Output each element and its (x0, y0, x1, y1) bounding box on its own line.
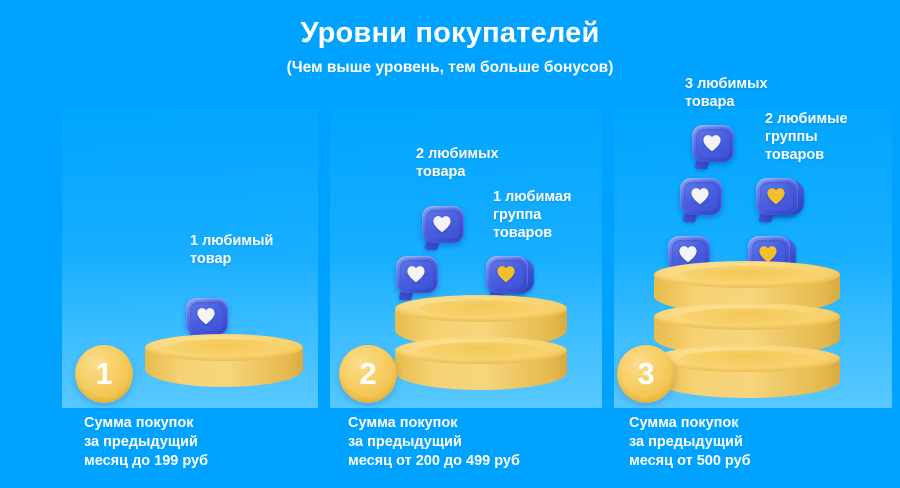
coin-stack-icon (654, 261, 840, 401)
caption-level-1: Сумма покупок за предыдущий месяц до 199… (84, 414, 334, 471)
callout-level-2-favorite-items: 2 любимых товара (416, 145, 566, 181)
speech-bubble-heart-icon (422, 206, 468, 250)
heart-icon (406, 265, 426, 283)
heart-icon (196, 307, 216, 325)
coin-stack-icon (145, 334, 303, 394)
level-card-3: 3 любимых товара 2 любимые группы товаро… (614, 0, 900, 488)
level-card-2: 2 любимых товара 1 любимая группа товаро… (330, 0, 616, 488)
speech-bubble-heart-icon (680, 178, 726, 222)
level-badge-1-number: 1 (95, 358, 112, 389)
caption-level-3: Сумма покупок за предыдущий месяц от 500… (629, 414, 891, 471)
heart-icon (690, 187, 710, 205)
level-badge-2-number: 2 (359, 358, 376, 389)
infographic-canvas: Уровни покупателей (Чем выше уровень, те… (0, 0, 900, 488)
level-badge-1: 1 (75, 345, 133, 403)
level-badge-3: 3 (617, 345, 675, 403)
speech-bubble-heart-icon (692, 125, 738, 169)
callout-level-1-favorite-items: 1 любимый товар (190, 232, 330, 268)
level-card-1: 1 любимый товар 1 Сумма покупок за преды… (62, 0, 330, 488)
level-badge-2: 2 (339, 345, 397, 403)
heart-icon (496, 265, 516, 283)
callout-level-3-favorite-groups: 2 любимые группы товаров (765, 110, 900, 164)
heart-icon (432, 215, 452, 233)
heart-icon (766, 187, 786, 205)
callout-level-3-favorite-items: 3 любимых товара (685, 75, 835, 111)
speech-bubble-group-icon (756, 178, 808, 222)
speech-bubble-group-icon (486, 256, 538, 300)
callout-level-2-favorite-groups: 1 любимая группа товаров (493, 188, 633, 242)
heart-icon (702, 134, 722, 152)
speech-bubble-heart-icon (396, 256, 442, 300)
caption-level-2: Сумма покупок за предыдущий месяц от 200… (348, 414, 616, 471)
coin-stack-icon (395, 295, 567, 395)
level-badge-3-number: 3 (637, 358, 654, 389)
